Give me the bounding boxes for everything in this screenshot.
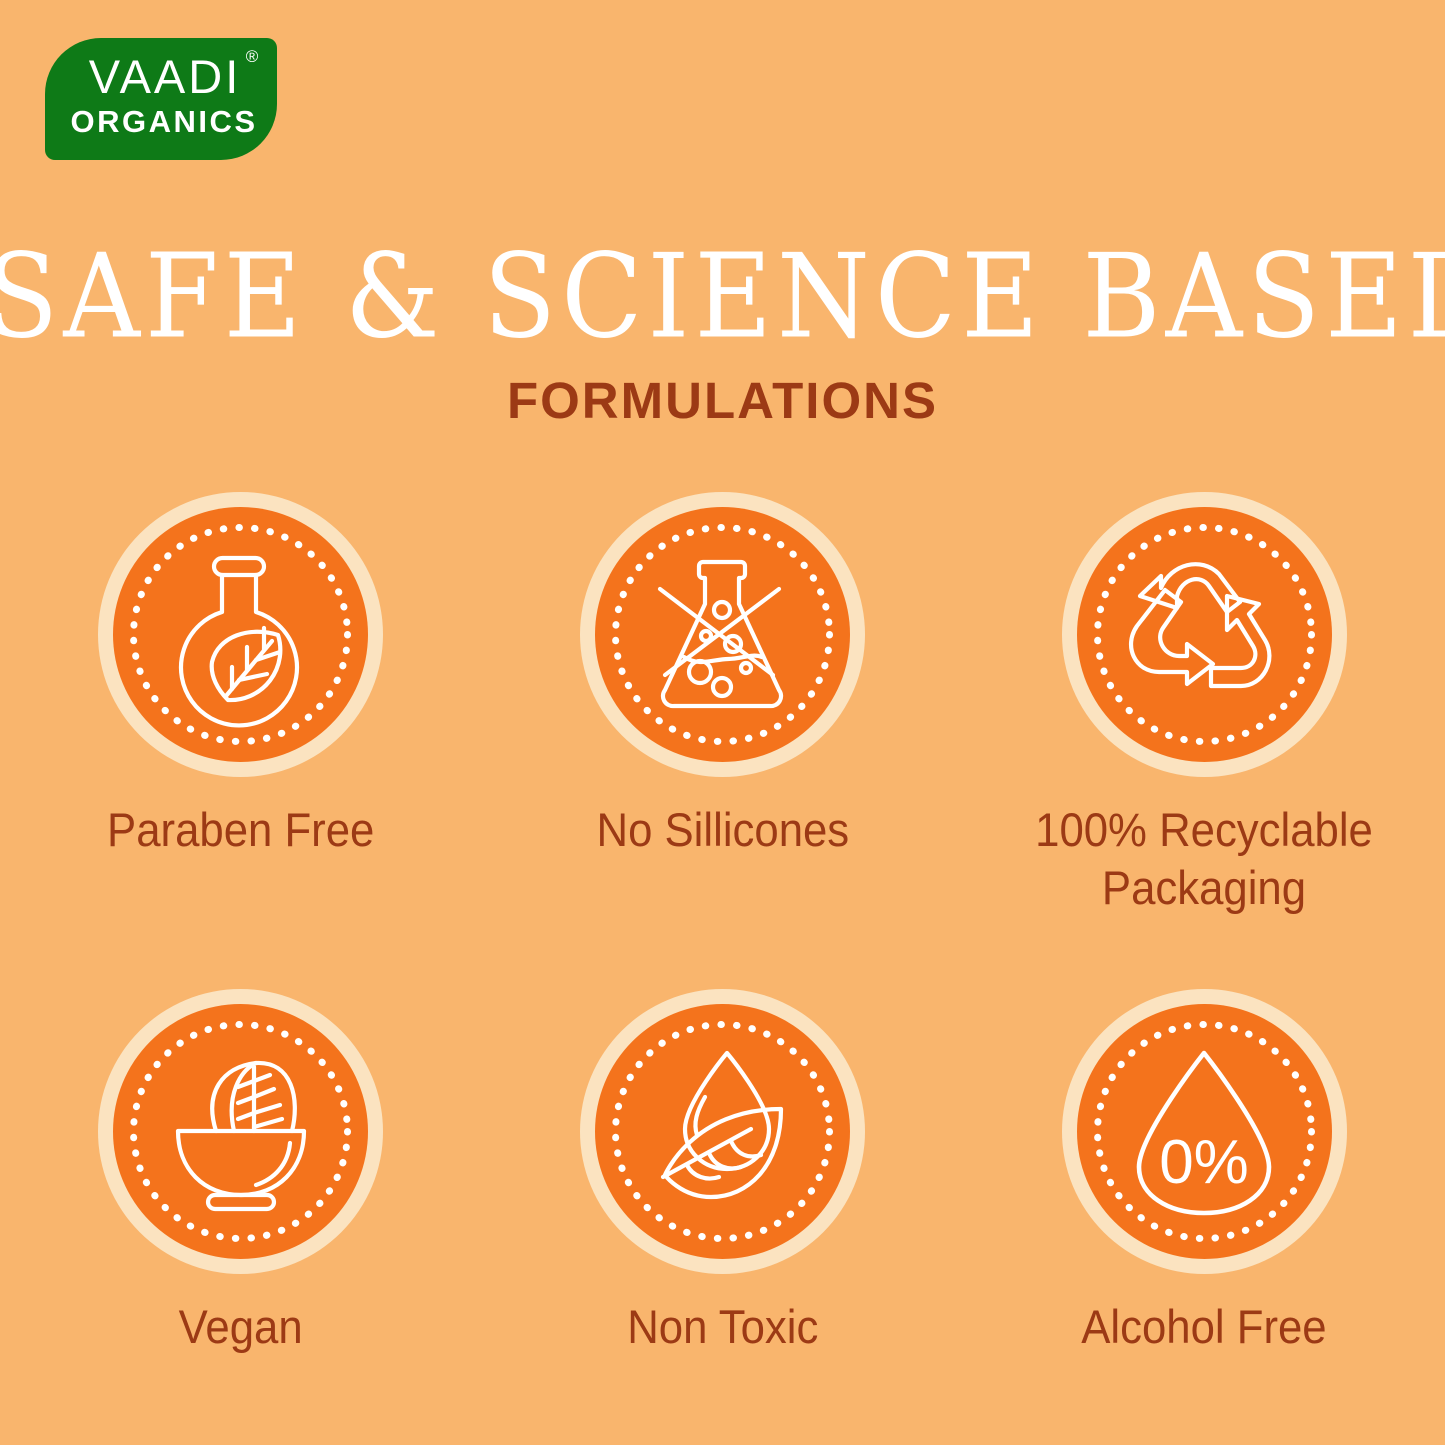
badge-label: Paraben Free xyxy=(107,801,374,859)
feature-item[interactable]: 100% Recyclable Packaging xyxy=(963,492,1445,917)
brand-subtitle: ORGANICS xyxy=(51,104,277,140)
feature-item[interactable]: Non Toxic xyxy=(482,989,964,1356)
badge-label: Alcohol Free xyxy=(1081,1298,1326,1356)
bowl-leaf-icon xyxy=(146,1037,336,1227)
feature-badge-grid: Paraben Free xyxy=(0,492,1445,1356)
feature-item[interactable]: Vegan xyxy=(0,989,482,1356)
feature-item[interactable]: No Sillicones xyxy=(482,492,964,917)
zero-percent-text: 0% xyxy=(1159,1128,1249,1197)
registered-trademark-icon: ® xyxy=(246,48,262,65)
badge-no-sillicones[interactable] xyxy=(580,492,865,777)
badge-disc xyxy=(113,507,368,762)
badge-vegan[interactable] xyxy=(98,989,383,1274)
flask-leaf-icon xyxy=(146,540,336,730)
recycle-icon xyxy=(1109,540,1299,730)
badge-disc xyxy=(1077,507,1332,762)
badge-label: Non Toxic xyxy=(627,1298,818,1356)
feature-item[interactable]: 0% Alcohol Free xyxy=(963,989,1445,1356)
badge-non-toxic[interactable] xyxy=(580,989,865,1274)
badge-label: 100% Recyclable Packaging xyxy=(1018,801,1390,917)
badge-disc: 0% xyxy=(1077,1004,1332,1259)
badge-label: Vegan xyxy=(179,1298,303,1356)
feature-item[interactable]: Paraben Free xyxy=(0,492,482,917)
badge-label: No Sillicones xyxy=(596,801,849,859)
badge-paraben-free[interactable] xyxy=(98,492,383,777)
badge-alcohol-free[interactable]: 0% xyxy=(1062,989,1347,1274)
brand-logo[interactable]: VAADI ® ORGANICS xyxy=(45,38,277,160)
badge-disc xyxy=(113,1004,368,1259)
badge-disc xyxy=(595,507,850,762)
badge-disc xyxy=(595,1004,850,1259)
headline-container: SAFE & SCIENCE BASED xyxy=(0,238,1445,342)
droplet-leaf-icon xyxy=(627,1037,817,1227)
brand-wordmark: VAADI ® xyxy=(89,50,242,104)
droplet-zero-percent-icon: 0% xyxy=(1109,1037,1299,1227)
page-title: SAFE & SCIENCE BASED xyxy=(0,238,1445,354)
badge-recyclable-packaging[interactable] xyxy=(1062,492,1347,777)
flask-crossed-out-icon xyxy=(627,540,817,730)
page-subtitle: FORMULATIONS xyxy=(0,373,1445,429)
brand-name-text: VAADI xyxy=(89,50,242,103)
